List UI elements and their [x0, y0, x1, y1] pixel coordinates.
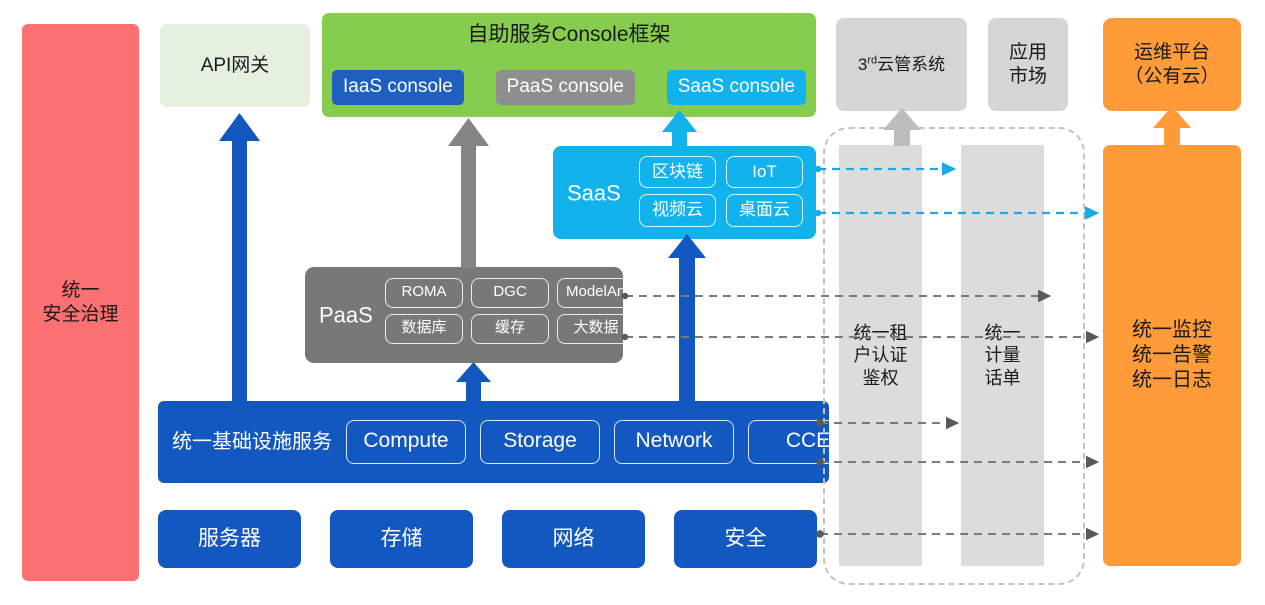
unified-infrastructure-service-block: 统一基础设施服务 Compute Storage Network CCE — [158, 401, 829, 483]
hardware-server-block[interactable]: 服务器 — [158, 510, 301, 568]
app-market-block: 应用 市场 — [988, 18, 1068, 111]
unified-metering-billing-label: 统一 计量 话单 — [985, 322, 1021, 390]
unified-security-governance-label: 统一 安全治理 — [42, 279, 118, 327]
iaas-service-compute[interactable]: Compute — [346, 420, 466, 463]
third-party-cloud-management-label: 3rd云管系统 — [858, 54, 945, 75]
chip-saas-console[interactable]: SaaS console — [667, 70, 806, 105]
saas-service-video-cloud[interactable]: 视频云 — [639, 194, 716, 226]
paas-service-database[interactable]: 数据库 — [385, 314, 463, 344]
chip-paas-console[interactable]: PaaS console — [496, 70, 635, 105]
chip-iaas-console[interactable]: IaaS console — [332, 70, 464, 105]
arrow-iaas-to-api-gateway — [219, 113, 260, 401]
iaas-service-network[interactable]: Network — [614, 420, 734, 463]
hardware-network-block[interactable]: 网络 — [502, 510, 645, 568]
arrow-paas-to-console — [448, 118, 489, 268]
api-gateway-label: API网关 — [201, 54, 270, 78]
unified-metering-billing-column: 统一 计量 话单 — [961, 145, 1044, 566]
saas-service-desktop-cloud[interactable]: 桌面云 — [726, 194, 803, 226]
unified-tenant-auth-column: 统一租 户认证 鉴权 — [839, 145, 922, 566]
saas-layer-block: SaaS 区块链 IoT 视频云 桌面云 — [553, 146, 816, 239]
paas-layer-label: PaaS — [319, 301, 373, 329]
saas-layer-label: SaaS — [567, 179, 621, 207]
unified-monitoring-label: 统一监控 统一告警 统一日志 — [1132, 318, 1212, 393]
hardware-storage-block[interactable]: 存储 — [330, 510, 473, 568]
paas-service-dgc[interactable]: DGC — [471, 278, 549, 308]
iaas-service-storage[interactable]: Storage — [480, 420, 600, 463]
hardware-security-label: 安全 — [725, 526, 767, 552]
third-party-cloud-management-block: 3rd云管系统 — [836, 18, 967, 111]
saas-service-blockchain[interactable]: 区块链 — [639, 156, 716, 188]
unified-monitoring-column: 统一监控 统一告警 统一日志 — [1103, 145, 1241, 566]
console-framework-title: 自助服务Console框架 — [322, 22, 816, 48]
architecture-diagram: 统一 安全治理 API网关 自助服务Console框架 IaaS console… — [0, 0, 1265, 605]
arrow-monitoring-to-ops-platform — [1153, 106, 1191, 146]
paas-service-cache[interactable]: 缓存 — [471, 314, 549, 344]
hardware-security-block[interactable]: 安全 — [674, 510, 817, 568]
hardware-network-label: 网络 — [553, 526, 595, 552]
console-chip-row: IaaS console PaaS console SaaS console — [332, 70, 806, 105]
paas-service-grid: ROMA DGC ModelArts 数据库 缓存 大数据 — [385, 278, 635, 344]
unified-security-governance-block: 统一 安全治理 — [22, 24, 139, 581]
arrow-iaas-to-saas — [668, 234, 706, 402]
paas-layer-block: PaaS ROMA DGC ModelArts 数据库 缓存 大数据 — [305, 267, 623, 363]
paas-service-bigdata[interactable]: 大数据 — [557, 314, 635, 344]
unified-tenant-auth-label: 统一租 户认证 鉴权 — [854, 322, 908, 390]
ops-platform-label: 运维平台 （公有云） — [1124, 41, 1219, 89]
paas-service-roma[interactable]: ROMA — [385, 278, 463, 308]
ops-platform-block: 运维平台 （公有云） — [1103, 18, 1241, 111]
paas-service-modelarts[interactable]: ModelArts — [557, 278, 635, 308]
arrow-iaas-to-paas — [456, 362, 491, 402]
api-gateway-block: API网关 — [160, 24, 310, 107]
saas-service-grid: 区块链 IoT 视频云 桌面云 — [639, 156, 803, 227]
saas-service-iot[interactable]: IoT — [726, 156, 803, 188]
hardware-storage-label: 存储 — [381, 526, 423, 552]
hardware-server-label: 服务器 — [198, 526, 261, 552]
unified-infrastructure-service-label: 统一基础设施服务 — [172, 430, 332, 455]
app-market-label: 应用 市场 — [1009, 41, 1047, 89]
console-framework-block: 自助服务Console框架 IaaS console PaaS console … — [322, 13, 816, 117]
